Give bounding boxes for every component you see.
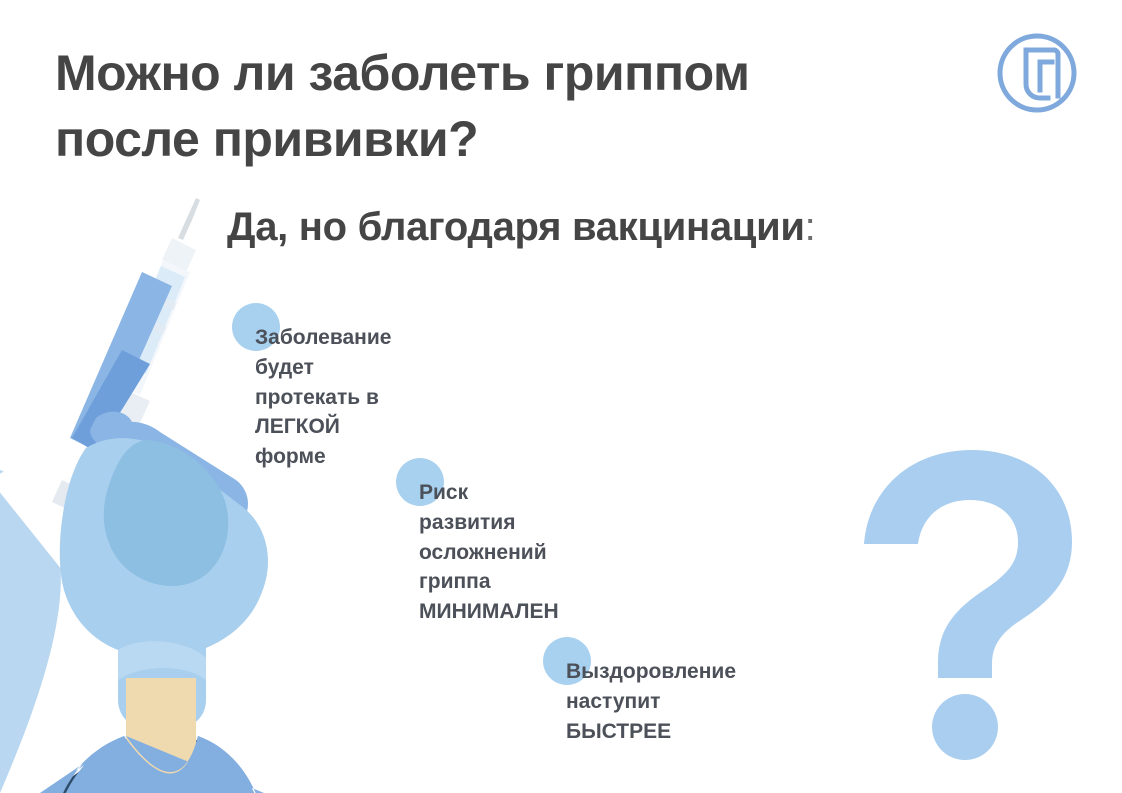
subtitle: Да, но благодаря вакцинации: [227, 205, 816, 250]
subtitle-text: Да, но благодаря вакцинации [227, 205, 805, 249]
infographic-poster: Можно ли заболеть гриппом после прививки… [0, 0, 1122, 793]
benefit-text-3: Выздоровление наступит БЫСТРЕЕ [566, 657, 736, 746]
benefit-text-2: Риск развития осложнений гриппа МИНИМАЛЕ… [419, 478, 559, 627]
benefit-text-1: Заболевание будет протекать в ЛЕГКОЙ фор… [255, 323, 391, 472]
clinic-logo-icon [996, 32, 1078, 114]
glove-palm-shadow [104, 440, 229, 586]
gloved-hand-holding-syringe-illustration [0, 180, 300, 793]
page-title: Можно ли заболеть гриппом после прививки… [55, 40, 955, 172]
subtitle-colon: : [805, 205, 816, 249]
question-mark-icon [862, 450, 1082, 760]
syringe-needle [178, 198, 200, 240]
